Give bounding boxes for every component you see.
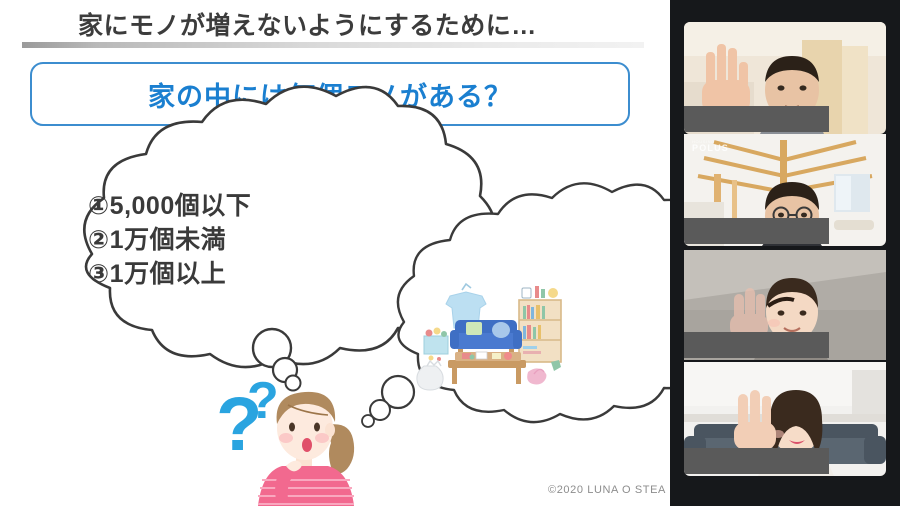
answer-option: ①5,000個以下 bbox=[88, 190, 251, 223]
video-participants-panel: HOUSING POLUS bbox=[670, 0, 900, 506]
presentation-slide: 家にモノが増えないようにするために… 家の中には何個モノがある？ bbox=[0, 0, 670, 506]
copyright-notice: ©2020 LUNA O STEA bbox=[548, 484, 666, 496]
answer-options-list: ①5,000個以下 ②1万個未満 ③1万個以上 bbox=[88, 190, 251, 292]
answer-option: ③1万個以上 bbox=[88, 258, 251, 291]
participant-tile[interactable]: HOUSING POLUS bbox=[684, 134, 886, 246]
question-mark-icons: ? ? bbox=[216, 372, 279, 467]
svg-text:?: ? bbox=[247, 372, 279, 430]
polus-watermark-sub: HOUSING bbox=[692, 140, 729, 144]
participant-name-redacted bbox=[684, 448, 829, 474]
participant-name-redacted bbox=[684, 106, 829, 132]
participant-tile[interactable] bbox=[684, 22, 886, 134]
screen: 家にモノが増えないようにするために… 家の中には何個モノがある？ bbox=[0, 0, 900, 506]
answer-option: ②1万個未満 bbox=[88, 224, 251, 257]
participant-name-redacted bbox=[684, 332, 829, 358]
polus-watermark: HOUSING POLUS bbox=[692, 140, 729, 154]
polus-watermark-text: POLUS bbox=[692, 143, 729, 153]
participant-name-redacted bbox=[684, 218, 829, 244]
participant-tile-active[interactable] bbox=[684, 250, 886, 360]
participant-tile[interactable] bbox=[684, 362, 886, 476]
